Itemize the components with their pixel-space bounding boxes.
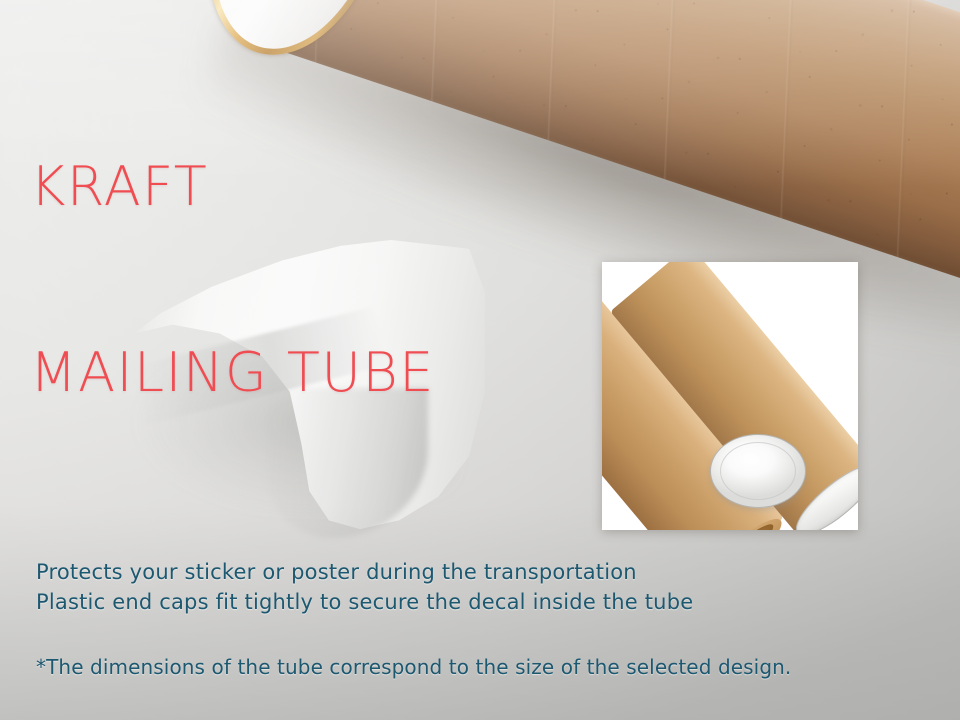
inset-loose-plastic-cap bbox=[710, 434, 806, 508]
product-banner: KRAFT MAILING TUBE Protects your sticker… bbox=[0, 0, 960, 720]
title-line-2: MAILING TUBE bbox=[30, 342, 435, 404]
inset-tube-open-rim bbox=[693, 510, 789, 530]
inset-loose-cap-inner-ring bbox=[720, 442, 796, 500]
description-line-1: Protects your sticker or poster during t… bbox=[36, 557, 693, 587]
footnote-text: *The dimensions of the tube correspond t… bbox=[36, 655, 791, 679]
description-line-2: Plastic end caps fit tightly to secure t… bbox=[36, 587, 693, 617]
page-title: KRAFT MAILING TUBE bbox=[30, 32, 435, 528]
inset-background bbox=[602, 262, 858, 530]
title-line-1: KRAFT bbox=[30, 156, 435, 218]
inset-product-photo bbox=[602, 262, 858, 530]
description-text: Protects your sticker or poster during t… bbox=[36, 557, 693, 617]
